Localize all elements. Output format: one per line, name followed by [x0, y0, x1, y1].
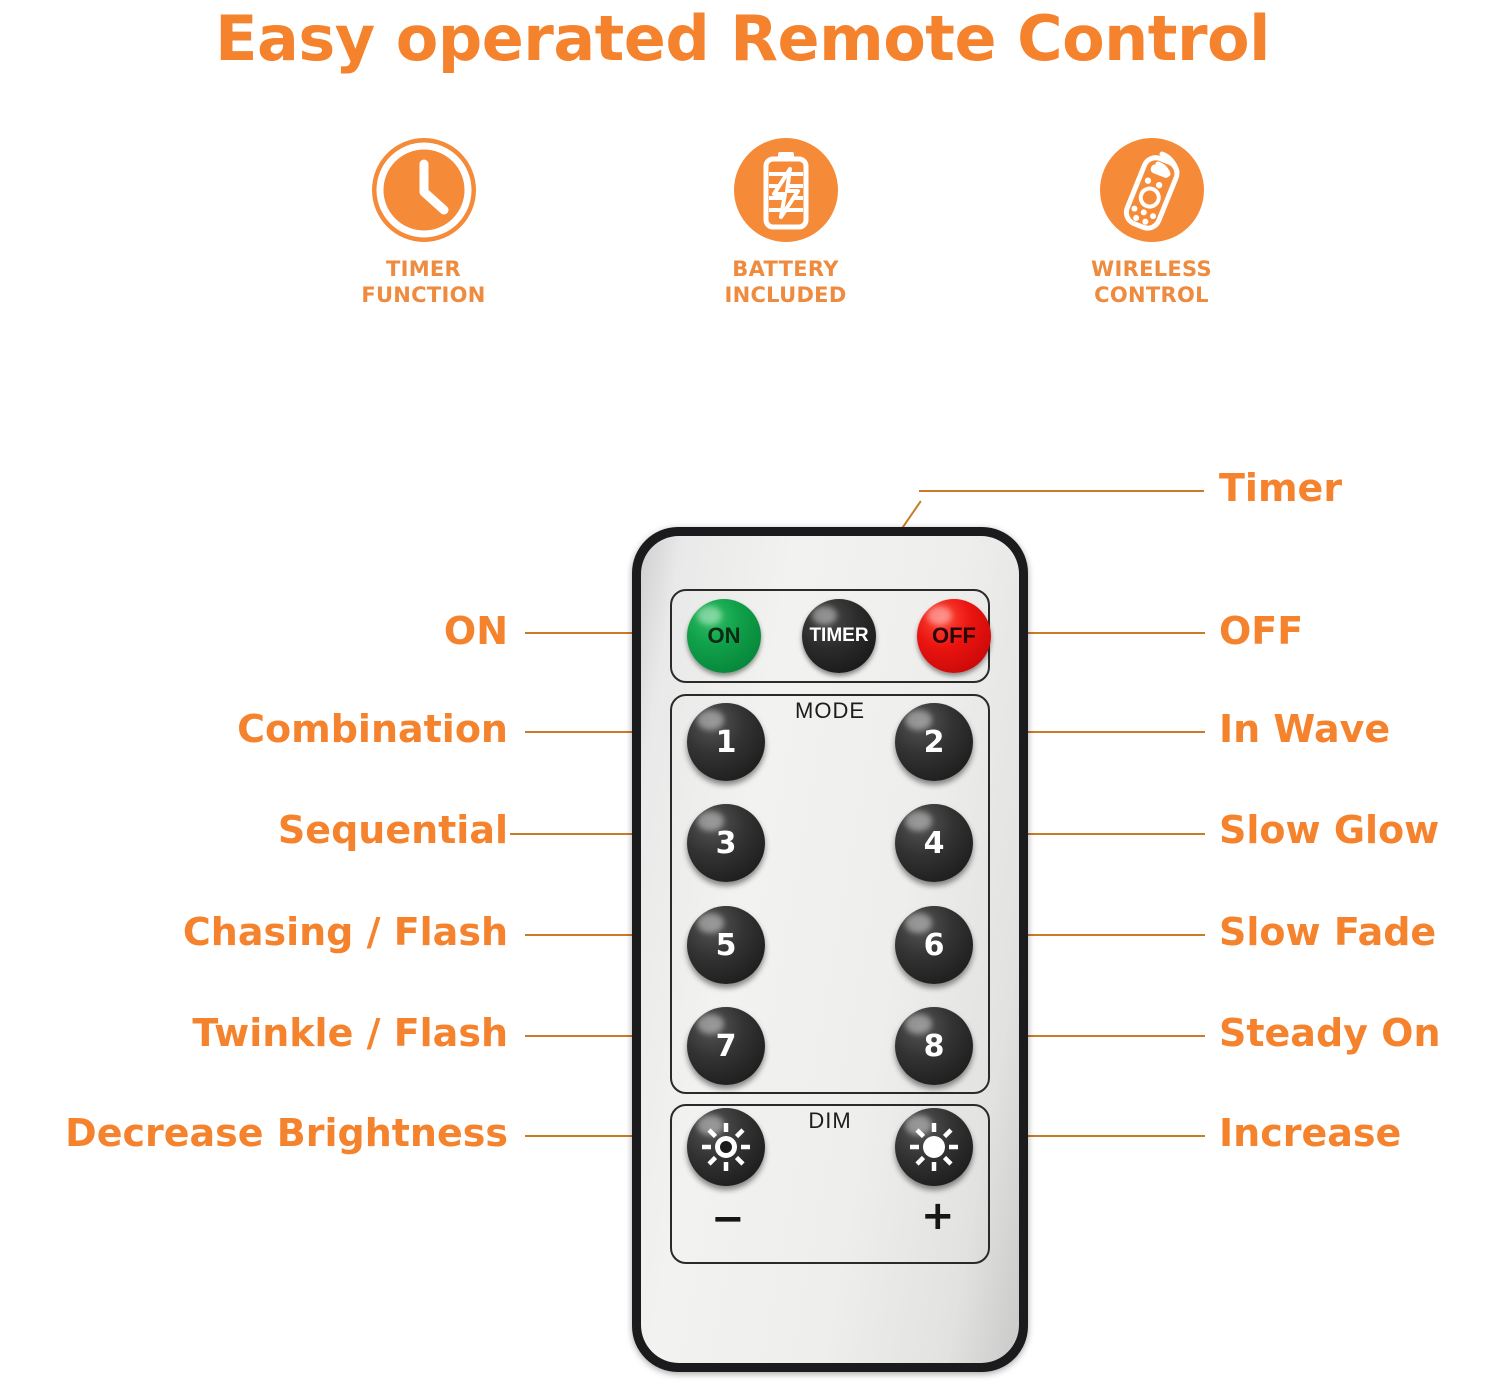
- dim-minus-label: −: [711, 1196, 745, 1242]
- feature-timer-function: TIMER FUNCTION: [299, 136, 549, 309]
- feature-label: WIRELESS CONTROL: [1091, 256, 1212, 309]
- feature-badges: TIMER FUNCTION BATTERY INCLUDED: [0, 136, 1485, 309]
- callout-mode6-slow-fade: Slow Fade: [1219, 910, 1436, 954]
- mode-button-5[interactable]: 5: [687, 906, 765, 984]
- callout-timer: Timer: [1219, 466, 1342, 510]
- mode-button-7[interactable]: 7: [687, 1007, 765, 1085]
- feature-label-line2: CONTROL: [1094, 283, 1209, 307]
- feature-wireless-control: WIRELESS CONTROL: [1027, 136, 1277, 309]
- page-title: Easy operated Remote Control: [0, 2, 1485, 75]
- feature-label-line1: BATTERY: [732, 257, 838, 281]
- timer-button[interactable]: TIMER: [802, 599, 876, 673]
- mode-button-8[interactable]: 8: [895, 1007, 973, 1085]
- callout-on: ON: [444, 609, 508, 653]
- remote-faceplate: ON TIMER OFF MODE 1 2 3 4 5 6 7 8 DIM: [641, 536, 1019, 1363]
- feature-label: TIMER FUNCTION: [361, 256, 485, 309]
- callout-off: OFF: [1219, 609, 1303, 653]
- leader-line-timer: [919, 490, 1204, 492]
- dim-increase-button[interactable]: [895, 1108, 973, 1186]
- callout-mode3-sequential: Sequential: [278, 808, 508, 852]
- feature-label-line1: TIMER: [386, 257, 461, 281]
- callout-dim-decrease-brightness: Decrease Brightness: [65, 1111, 508, 1155]
- callout-mode4-slow-glow: Slow Glow: [1219, 808, 1439, 852]
- feature-battery-included: BATTERY INCLUDED: [661, 136, 911, 309]
- remote-signal-icon: [1098, 136, 1206, 244]
- callout-mode8-steady-on: Steady On: [1219, 1011, 1441, 1055]
- dim-decrease-button[interactable]: [687, 1108, 765, 1186]
- brightness-high-icon: [906, 1119, 962, 1175]
- clock-icon: [370, 136, 478, 244]
- callout-mode5-chasing-flash: Chasing / Flash: [183, 910, 508, 954]
- brightness-low-icon: [698, 1119, 754, 1175]
- mode-button-1[interactable]: 1: [687, 703, 765, 781]
- mode-button-3[interactable]: 3: [687, 804, 765, 882]
- callout-mode2-in-wave: In Wave: [1219, 707, 1390, 751]
- mode-button-2[interactable]: 2: [895, 703, 973, 781]
- feature-label-line2: FUNCTION: [361, 283, 485, 307]
- feature-label: BATTERY INCLUDED: [724, 256, 846, 309]
- mode-button-6[interactable]: 6: [895, 906, 973, 984]
- battery-icon: [732, 136, 840, 244]
- on-button[interactable]: ON: [687, 599, 761, 673]
- callout-dim-increase: Increase: [1219, 1111, 1401, 1155]
- feature-label-line2: INCLUDED: [724, 283, 846, 307]
- mode-button-4[interactable]: 4: [895, 804, 973, 882]
- dim-plus-label: +: [921, 1193, 955, 1239]
- remote-control-device: ON TIMER OFF MODE 1 2 3 4 5 6 7 8 DIM: [632, 527, 1028, 1372]
- feature-label-line1: WIRELESS: [1091, 257, 1212, 281]
- callout-mode7-twinkle-flash: Twinkle / Flash: [192, 1011, 508, 1055]
- off-button[interactable]: OFF: [917, 599, 991, 673]
- callout-mode1-combination: Combination: [237, 707, 508, 751]
